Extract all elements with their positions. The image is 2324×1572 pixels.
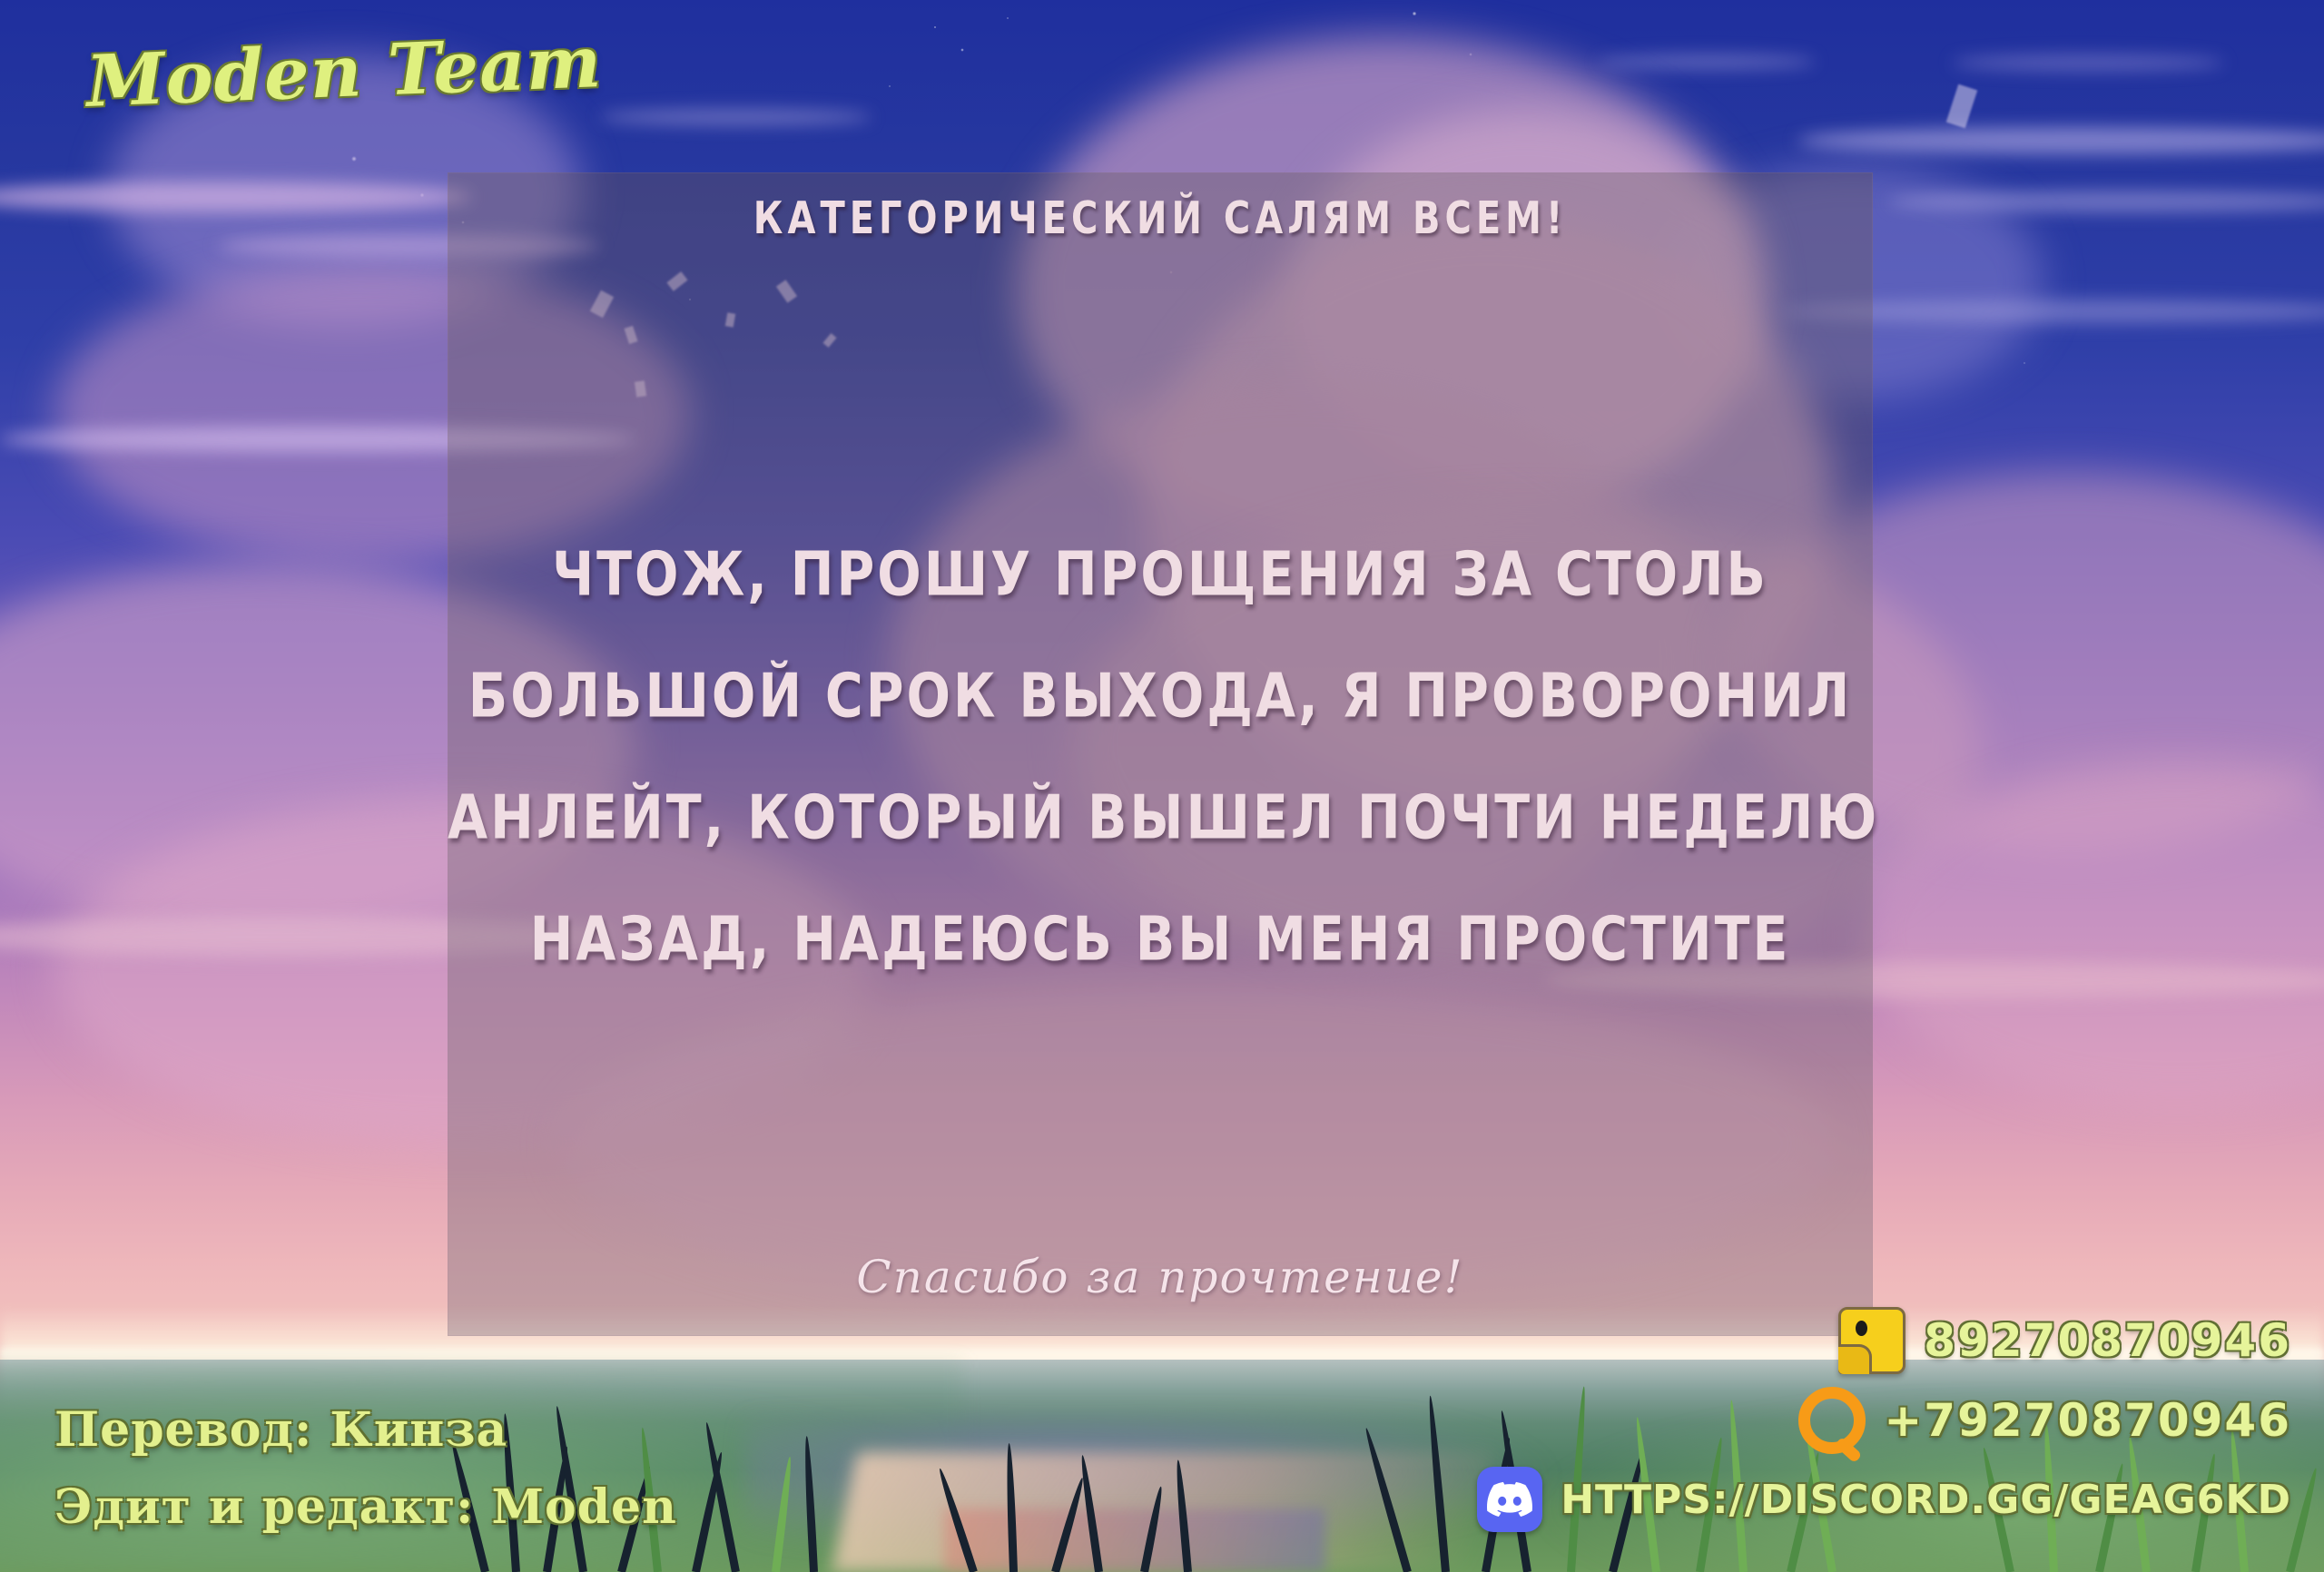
contact-value-discord: HTTPS://DISCORD.GG/GEAG6KD xyxy=(1561,1477,2291,1523)
contact-value-phone-intl: +79270870946 xyxy=(1884,1394,2291,1447)
staff-credits: Перевод: Кинза Эдит и редакт: Moden xyxy=(54,1402,677,1557)
wispy-cloud-streak xyxy=(599,109,871,125)
contacts-block: 89270870946 +79270870946 HTTPS://DISCORD… xyxy=(1477,1307,2291,1532)
credit-translator: Перевод: Кинза xyxy=(54,1402,677,1458)
chapter-end-credits-page: Moden Team КАТЕГОРИЧЕСКИЙ САЛЯМ ВСЕМ! ЧТ… xyxy=(0,0,2324,1572)
note-body-line: ЧТОЖ, ПРОШУ ПРОЩЕНИЯ ЗА СТОЛЬ xyxy=(448,539,1873,610)
yellow-note-icon xyxy=(1838,1307,1905,1374)
orange-q-ring xyxy=(1798,1387,1866,1454)
note-headline: КАТЕГОРИЧЕСКИЙ САЛЯМ ВСЕМ! xyxy=(448,193,1873,244)
note-body: ЧТОЖ, ПРОШУ ПРОЩЕНИЯ ЗА СТОЛЬ БОЛЬШОЙ СР… xyxy=(448,545,1873,1031)
thanks-for-reading-text: Спасибо за прочтение! xyxy=(448,1251,1873,1303)
contact-value-phone-local: 89270870946 xyxy=(1924,1314,2291,1367)
discord-icon xyxy=(1477,1467,1542,1532)
wispy-cloud-streak xyxy=(1952,54,2224,71)
note-body-line: БОЛЬШОЙ СРОК ВЫХОДА, Я ПРОВОРОНИЛ xyxy=(448,661,1873,732)
grass-silhouette xyxy=(962,1436,1235,1572)
contact-row-discord[interactable]: HTTPS://DISCORD.GG/GEAG6KD xyxy=(1477,1467,2291,1532)
contact-row-phone-local[interactable]: 89270870946 xyxy=(1838,1307,2291,1374)
credit-editor: Эдит и редакт: Moden xyxy=(54,1479,677,1535)
wispy-cloud-streak xyxy=(1598,54,1816,69)
orange-q-icon xyxy=(1798,1387,1866,1454)
note-body-line: НАЗАД, НАДЕЮСЬ ВЫ МЕНЯ ПРОСТИТЕ xyxy=(448,904,1873,975)
contact-row-phone-intl[interactable]: +79270870946 xyxy=(1798,1387,2291,1454)
note-body-line: АНЛЕЙТ, КОТОРЫЙ ВЫШЕЛ ПОЧТИ НЕДЕЛЮ xyxy=(448,782,1873,853)
